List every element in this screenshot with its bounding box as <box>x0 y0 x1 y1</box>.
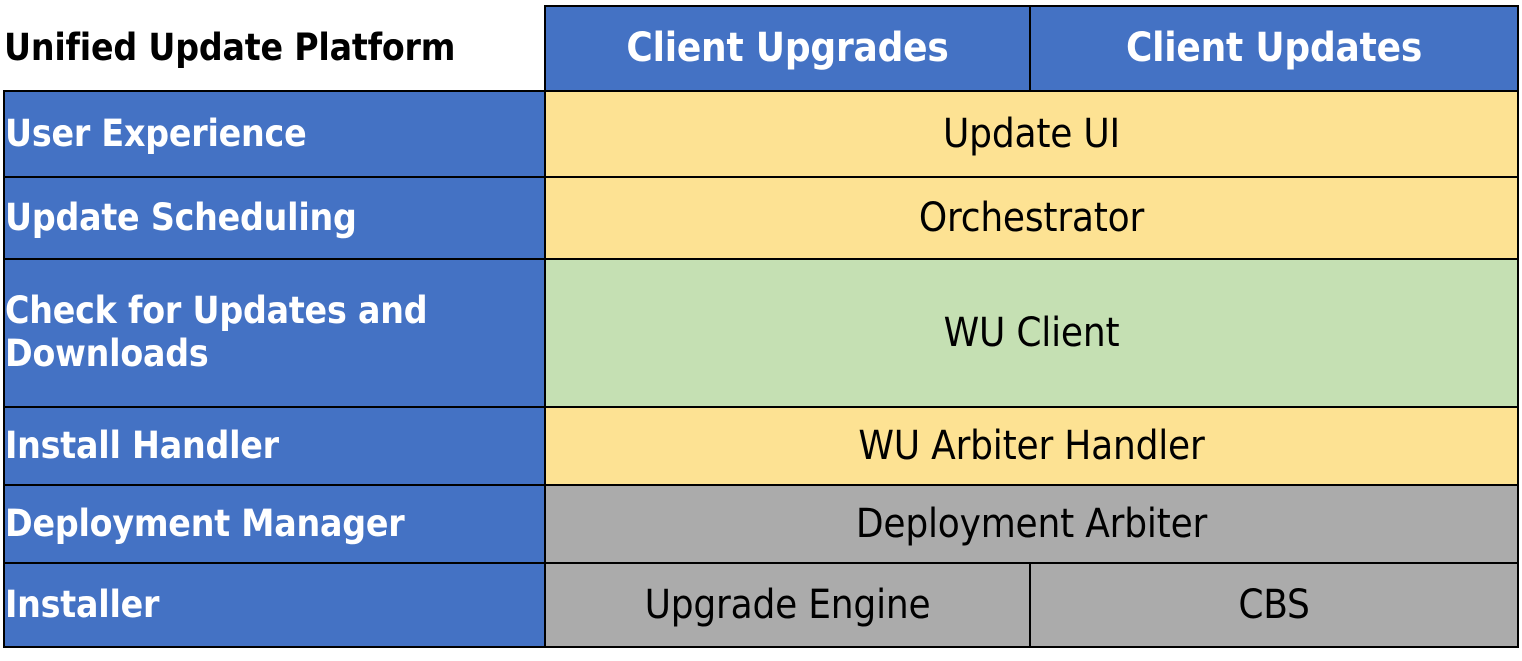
table-header-row: Unified Update Platform Client Upgrades … <box>4 6 1518 91</box>
cell-upgrade-engine: Upgrade Engine <box>545 563 1030 647</box>
row-label-installer: Installer <box>4 563 545 647</box>
unified-update-platform-matrix: Unified Update Platform Client Upgrades … <box>3 5 1519 648</box>
cell-cbs: CBS <box>1030 563 1518 647</box>
table-row: User Experience Update UI <box>4 91 1518 177</box>
column-header-client-upgrades: Client Upgrades <box>545 6 1030 91</box>
table-row: Deployment Manager Deployment Arbiter <box>4 485 1518 563</box>
cell-orchestrator: Orchestrator <box>545 177 1518 259</box>
row-label-update-scheduling: Update Scheduling <box>4 177 545 259</box>
table-row: Check for Updates and Downloads WU Clien… <box>4 259 1518 407</box>
column-header-client-updates: Client Updates <box>1030 6 1518 91</box>
table-row: Installer Upgrade Engine CBS <box>4 563 1518 647</box>
cell-deployment-arbiter: Deployment Arbiter <box>545 485 1518 563</box>
page-title: Unified Update Platform <box>4 6 545 91</box>
row-label-deployment-manager: Deployment Manager <box>4 485 545 563</box>
cell-wu-arbiter-handler: WU Arbiter Handler <box>545 407 1518 485</box>
table-row: Install Handler WU Arbiter Handler <box>4 407 1518 485</box>
row-label-check-for-updates-and-downloads: Check for Updates and Downloads <box>4 259 545 407</box>
cell-update-ui: Update UI <box>545 91 1518 177</box>
row-label-user-experience: User Experience <box>4 91 545 177</box>
cell-wu-client: WU Client <box>545 259 1518 407</box>
table-row: Update Scheduling Orchestrator <box>4 177 1518 259</box>
row-label-install-handler: Install Handler <box>4 407 545 485</box>
